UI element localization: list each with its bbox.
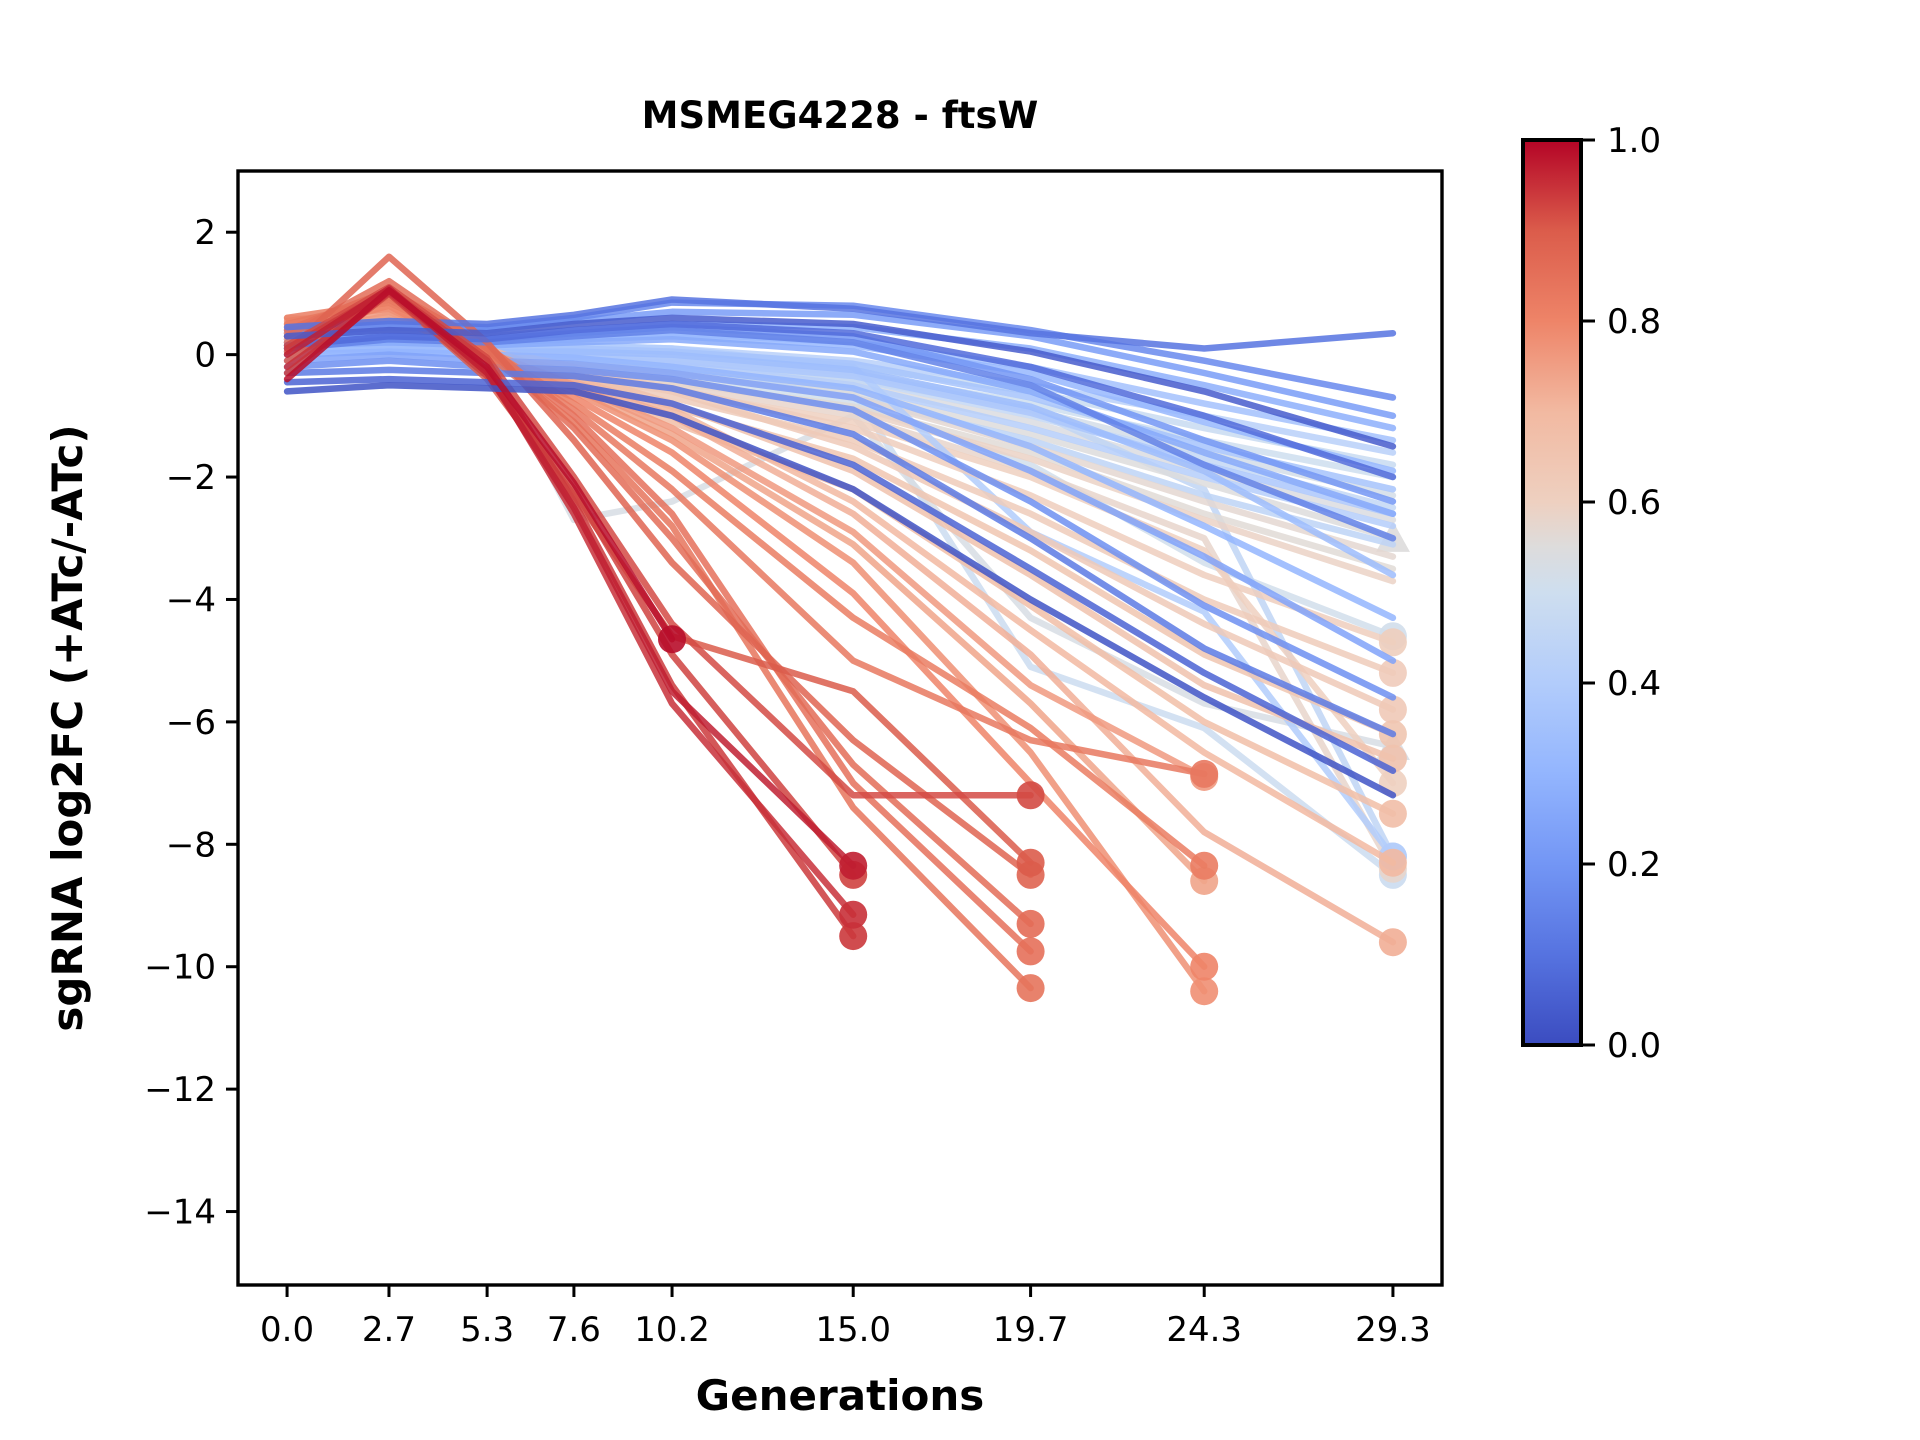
dropout-marker (1190, 852, 1218, 880)
dropout-marker (1017, 781, 1045, 809)
dropout-marker (1379, 849, 1407, 877)
chart-title: MSMEG4228 - ftsW (642, 94, 1039, 137)
dropout-marker (658, 625, 686, 653)
colorbar-tick-label: 0.4 (1607, 664, 1661, 704)
y-axis-label: sgRNA log2FC (+ATc/-ATc) (43, 424, 92, 1031)
dropout-marker (1190, 760, 1218, 788)
colorbar-gradient (1523, 140, 1581, 1045)
x-tick-label: 10.2 (634, 1310, 710, 1350)
x-tick-label: 5.3 (460, 1310, 514, 1350)
x-tick-label: 19.7 (993, 1310, 1069, 1350)
dropout-marker (1190, 953, 1218, 981)
colorbar-tick-label: 0.8 (1607, 302, 1661, 342)
y-tick-label: −8 (166, 825, 216, 865)
y-tick-label: 2 (194, 213, 216, 253)
colorbar-tick-label: 0.2 (1607, 845, 1661, 885)
line-chart: MSMEG4228 - ftsW 0.02.75.37.610.215.019.… (0, 0, 1920, 1440)
y-tick-label: −14 (144, 1193, 216, 1233)
y-tick-label: −6 (166, 703, 216, 743)
dropout-marker (1190, 977, 1218, 1005)
dropout-marker (839, 852, 867, 880)
matplotlib-figure: MSMEG4228 - ftsW 0.02.75.37.610.215.019.… (0, 0, 1920, 1440)
x-tick-label: 29.3 (1355, 1310, 1431, 1350)
colorbar-tick-label: 1.0 (1607, 121, 1661, 161)
dropout-marker (839, 901, 867, 929)
x-axis-label: Generations (696, 1371, 985, 1420)
dropout-marker (1379, 800, 1407, 828)
x-tick-label: 2.7 (362, 1310, 416, 1350)
x-tick-label: 24.3 (1166, 1310, 1242, 1350)
x-tick-label: 15.0 (815, 1310, 891, 1350)
dropout-marker (1017, 910, 1045, 938)
dropout-marker (1017, 974, 1045, 1002)
figure-background (0, 0, 1920, 1440)
colorbar-tick-label: 0.0 (1607, 1026, 1661, 1066)
x-tick-label: 0.0 (260, 1310, 314, 1350)
dropout-marker (1017, 937, 1045, 965)
colorbar[interactable] (1523, 140, 1581, 1045)
y-tick-label: −2 (166, 458, 216, 498)
y-tick-label: 0 (194, 336, 216, 376)
colorbar-tick-label: 0.6 (1607, 483, 1661, 523)
x-tick-label: 7.6 (547, 1310, 601, 1350)
y-tick-label: −12 (144, 1070, 216, 1110)
figure-canvas: MSMEG4228 - ftsW 0.02.75.37.610.215.019.… (0, 0, 1920, 1440)
y-tick-label: −10 (144, 948, 216, 988)
dropout-marker (1017, 849, 1045, 877)
y-tick-label: −4 (166, 580, 216, 620)
dropout-marker (1379, 928, 1407, 956)
